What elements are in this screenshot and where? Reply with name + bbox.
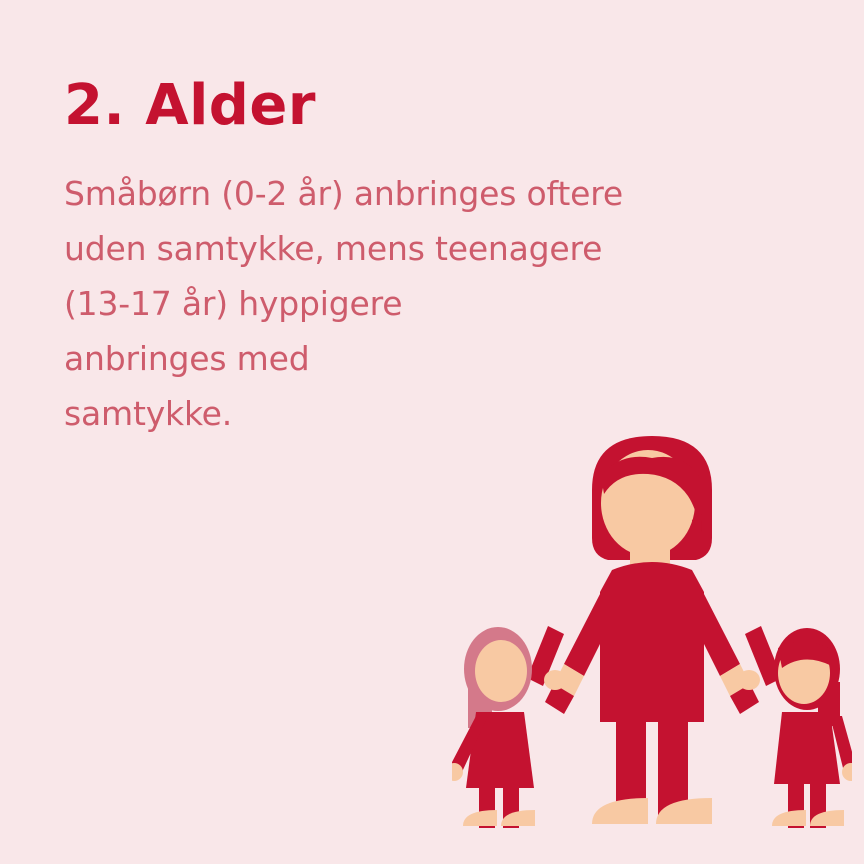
page-title: 2. Alder (64, 74, 764, 138)
body-line-1: Småbørn (0-2 år) anbringes oftere (64, 166, 764, 221)
child-left-figure (452, 626, 564, 828)
body-line-2: uden samtykke, mens teenagere (64, 221, 764, 276)
body-line-3: (13-17 år) hyppigere (64, 276, 764, 331)
text-block: 2. Alder Småbørn (0-2 år) anbringes ofte… (64, 74, 764, 441)
body-paragraph: Småbørn (0-2 år) anbringes oftere uden s… (64, 166, 764, 441)
slide-canvas: 2. Alder Småbørn (0-2 år) anbringes ofte… (0, 0, 864, 864)
family-holding-hands-icon (452, 428, 852, 828)
child-right-figure (745, 626, 852, 828)
body-line-4: anbringes med (64, 331, 764, 386)
adult-figure (545, 436, 759, 824)
